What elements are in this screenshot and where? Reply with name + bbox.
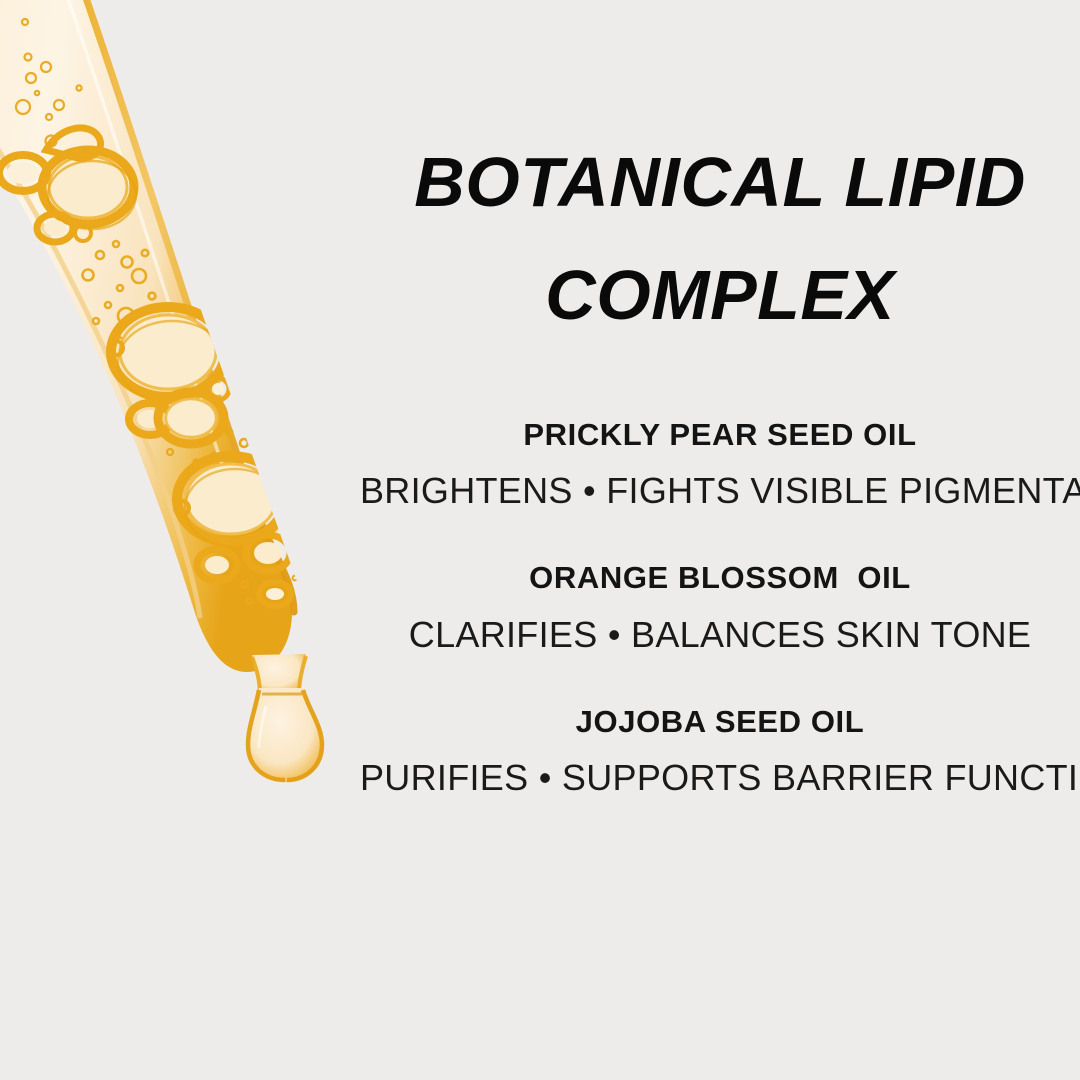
ingredient-benefits: PURIFIES • SUPPORTS BARRIER FUNCTION <box>360 756 1080 799</box>
ingredient-benefits: BRIGHTENS • FIGHTS VISIBLE PIGMENTATION <box>360 469 1080 512</box>
ingredient-item-jojoba: JOJOBA SEED OIL PURIFIES • SUPPORTS BARR… <box>360 702 1080 799</box>
text-column: BOTANICAL LIPID COMPLEX PRICKLY PEAR SEE… <box>360 0 1080 1080</box>
title-line-1: BOTANICAL LIPID <box>360 126 1080 239</box>
ingredient-item-orange-blossom: ORANGE BLOSSOM OIL CLARIFIES • BALANCES … <box>360 558 1080 655</box>
ingredient-name: PRICKLY PEAR SEED OIL <box>360 415 1080 455</box>
ingredient-benefits: CLARIFIES • BALANCES SKIN TONE <box>360 613 1080 656</box>
oil-droplet <box>248 688 323 782</box>
ingredient-name: JOJOBA SEED OIL <box>360 702 1080 742</box>
ingredient-name: ORANGE BLOSSOM OIL <box>360 558 1080 598</box>
ingredient-item-prickly-pear: PRICKLY PEAR SEED OIL BRIGHTENS • FIGHTS… <box>360 415 1080 512</box>
product-ingredient-infographic: BOTANICAL LIPID COMPLEX PRICKLY PEAR SEE… <box>0 0 1080 1080</box>
ingredient-list: PRICKLY PEAR SEED OIL BRIGHTENS • FIGHTS… <box>360 415 1080 799</box>
title-line-2: COMPLEX <box>360 239 1080 352</box>
page-title: BOTANICAL LIPID COMPLEX <box>360 126 1080 353</box>
